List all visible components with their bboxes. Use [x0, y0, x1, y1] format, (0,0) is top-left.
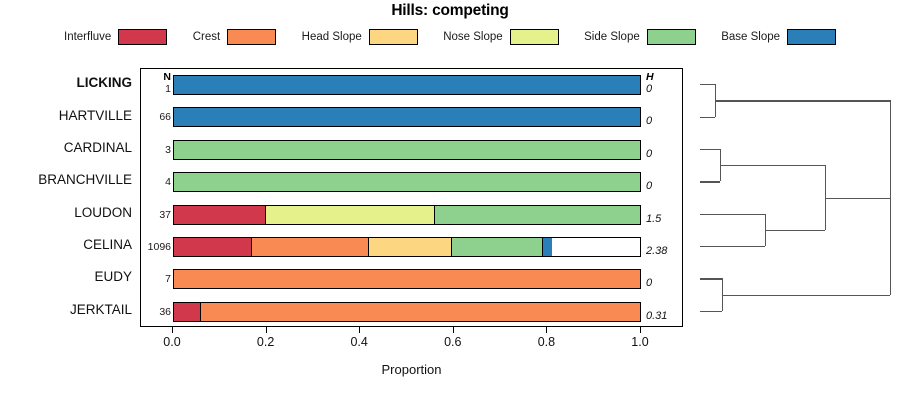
x-axis-tick-label: 0.6 — [428, 335, 478, 349]
chart-figure: Hills: competing InterfluveCrestHead Slo… — [0, 0, 900, 400]
legend-spacer — [696, 37, 721, 38]
x-axis-title: Proportion — [140, 362, 683, 377]
stacked-bar — [173, 107, 641, 127]
dendrogram-link — [890, 100, 891, 294]
category-label-cardinal: CARDINAL — [0, 140, 132, 155]
category-label-eudy: EUDY — [0, 269, 132, 284]
stacked-bar — [173, 205, 641, 225]
x-axis-tick-label: 0.0 — [147, 335, 197, 349]
h-value: 0 — [646, 277, 682, 289]
stacked-bar — [173, 140, 641, 160]
table-row: 360.31 — [141, 296, 684, 328]
bar-segment-side-slope — [174, 141, 640, 159]
x-axis: 0.00.20.40.60.81.0 — [140, 327, 683, 367]
bar-segment-base-slope — [543, 238, 552, 256]
table-row: 660 — [141, 101, 684, 133]
category-label-branchville: BRANCHVILLE — [0, 172, 132, 187]
plot-panel: N H 106603040371.510962.3870360.31 — [140, 68, 683, 327]
dendrogram — [688, 68, 900, 327]
legend-item: Interfluve — [64, 29, 167, 45]
legend-spacer — [559, 37, 584, 38]
legend-spacer — [167, 37, 192, 38]
dendrogram-link — [765, 230, 825, 231]
n-value: 1 — [141, 83, 171, 95]
n-value: 36 — [141, 306, 171, 318]
legend-item-label: Head Slope — [302, 31, 362, 43]
bar-segment-crest — [174, 270, 640, 288]
legend-item-label: Base Slope — [721, 31, 780, 43]
legend-item: Base Slope — [721, 29, 836, 45]
dendrogram-link — [700, 84, 715, 85]
legend: InterfluveCrestHead SlopeNose SlopeSide … — [64, 27, 836, 47]
dendrogram-link — [700, 278, 722, 279]
category-axis-labels: LICKINGHARTVILLECARDINALBRANCHVILLELOUDO… — [0, 68, 136, 327]
x-axis-tick — [453, 327, 454, 333]
x-axis-tick — [640, 327, 641, 333]
legend-item-label: Nose Slope — [443, 31, 502, 43]
dendrogram-link — [720, 165, 825, 166]
bar-segment-base-slope — [174, 108, 640, 126]
legend-spacer — [418, 37, 443, 38]
legend-item-swatch — [118, 29, 167, 45]
stacked-bar — [173, 269, 641, 289]
x-axis-tick-label: 0.8 — [521, 335, 571, 349]
table-row: 40 — [141, 166, 684, 198]
chart-title: Hills: competing — [0, 2, 900, 20]
x-axis-tick — [359, 327, 360, 333]
legend-item-swatch — [787, 29, 836, 45]
legend-item-label: Side Slope — [584, 31, 640, 43]
dendrogram-link — [700, 149, 720, 150]
h-value: 2.38 — [646, 245, 682, 257]
dendrogram-link — [722, 295, 890, 296]
bar-rows: 106603040371.510962.3870360.31 — [141, 69, 684, 328]
dendrogram-link — [700, 214, 765, 215]
n-value: 1096 — [141, 241, 171, 253]
legend-item-swatch — [369, 29, 418, 45]
category-label-jerktail: JERKTAIL — [0, 302, 132, 317]
h-value: 0 — [646, 83, 682, 95]
bar-segment-crest — [201, 303, 640, 321]
bar-segment-nose-slope — [266, 206, 435, 224]
dendrogram-link — [700, 311, 722, 312]
bar-segment-side-slope — [435, 206, 640, 224]
dendrogram-link — [825, 198, 890, 199]
dendrogram-link — [715, 100, 890, 101]
x-axis-tick — [172, 327, 173, 333]
n-value: 37 — [141, 209, 171, 221]
bar-segment-side-slope — [174, 173, 640, 191]
legend-item: Side Slope — [584, 29, 696, 45]
legend-spacer — [276, 37, 301, 38]
category-label-loudon: LOUDON — [0, 205, 132, 220]
legend-item-label: Crest — [193, 31, 220, 43]
stacked-bar — [173, 302, 641, 322]
dendrogram-link — [700, 246, 765, 247]
x-axis-tick-label: 0.4 — [334, 335, 384, 349]
table-row: 10 — [141, 69, 684, 101]
bar-segment-crest — [252, 238, 369, 256]
table-row: 70 — [141, 263, 684, 295]
bar-segment-interfluve — [174, 303, 201, 321]
x-axis-tick-label: 0.2 — [241, 335, 291, 349]
table-row: 371.5 — [141, 199, 684, 231]
stacked-bar — [173, 237, 641, 257]
h-value: 0 — [646, 115, 682, 127]
h-value: 0 — [646, 148, 682, 160]
bar-segment-interfluve — [174, 206, 266, 224]
legend-item: Head Slope — [302, 29, 418, 45]
legend-item: Crest — [193, 29, 276, 45]
stacked-bar — [173, 172, 641, 192]
legend-item-swatch — [510, 29, 559, 45]
category-label-hartville: HARTVILLE — [0, 108, 132, 123]
legend-item-label: Interfluve — [64, 31, 111, 43]
h-value: 1.5 — [646, 213, 682, 225]
dendrogram-link — [700, 117, 715, 118]
n-value: 7 — [141, 273, 171, 285]
category-label-licking: LICKING — [0, 75, 132, 90]
legend-item-swatch — [227, 29, 276, 45]
category-label-celina: CELINA — [0, 237, 132, 252]
h-value: 0.31 — [646, 310, 682, 322]
n-value: 4 — [141, 176, 171, 188]
h-value: 0 — [646, 180, 682, 192]
x-axis-tick — [266, 327, 267, 333]
table-row: 10962.38 — [141, 231, 684, 263]
legend-item: Nose Slope — [443, 29, 558, 45]
bar-segment-base-slope — [174, 76, 640, 94]
bar-segment-side-slope — [452, 238, 543, 256]
n-value: 66 — [141, 111, 171, 123]
x-axis-tick — [546, 327, 547, 333]
dendrogram-link — [700, 181, 720, 182]
legend-item-swatch — [647, 29, 696, 45]
n-value: 3 — [141, 144, 171, 156]
x-axis-tick-label: 1.0 — [615, 335, 665, 349]
bar-segment-head-slope — [369, 238, 452, 256]
table-row: 30 — [141, 134, 684, 166]
stacked-bar — [173, 75, 641, 95]
bar-segment-interfluve — [174, 238, 252, 256]
